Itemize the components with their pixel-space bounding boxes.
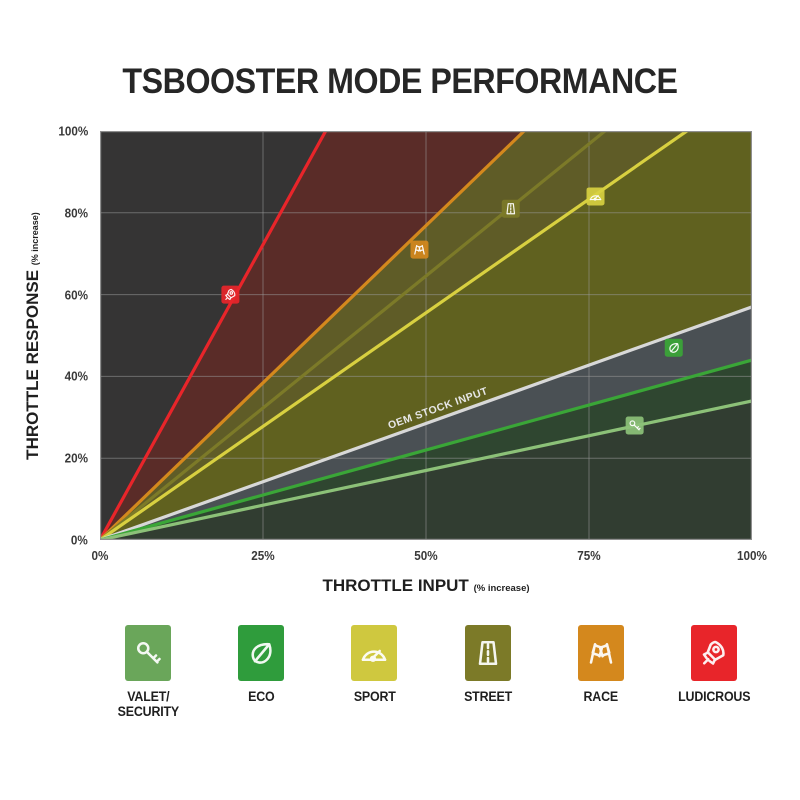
legend-item-sport[interactable]: SPORT xyxy=(322,625,426,704)
y-tick-label: 20% xyxy=(65,451,88,466)
legend-label: VALET/ SECURITY xyxy=(117,689,178,719)
legend-item-race[interactable]: RACE xyxy=(549,625,653,704)
legend-label: RACE xyxy=(584,689,618,704)
marker-tile xyxy=(221,286,239,304)
road-icon xyxy=(473,638,503,668)
legend-tile xyxy=(691,625,737,681)
key-icon xyxy=(133,638,163,668)
legend-tile xyxy=(351,625,397,681)
key-icon xyxy=(138,643,159,662)
data-marker-ludicrous xyxy=(221,286,239,304)
data-marker-race xyxy=(410,241,428,259)
chart-svg: OEM STOCK INPUT xyxy=(100,131,752,540)
x-tick-label: 75% xyxy=(577,548,600,563)
legend-item-eco[interactable]: ECO xyxy=(209,625,313,704)
legend-item-valet-security[interactable]: VALET/ SECURITY xyxy=(96,625,200,719)
y-axis-title-sub: (% increase) xyxy=(30,212,40,265)
y-tick-label: 0% xyxy=(71,533,88,548)
y-tick-label: 100% xyxy=(58,124,88,139)
legend-label: SPORT xyxy=(353,689,395,704)
chart-legend: VALET/ SECURITYECOSPORTSTREETRACELUDICRO… xyxy=(96,625,766,735)
y-tick-label: 60% xyxy=(65,287,88,302)
chart-plot-area: OEM STOCK INPUT xyxy=(100,131,752,540)
legend-item-street[interactable]: STREET xyxy=(436,625,540,704)
x-axis-title-sub: (% increase) xyxy=(474,583,530,594)
x-tick-label: 50% xyxy=(414,548,437,563)
legend-tile xyxy=(578,625,624,681)
legend-tile xyxy=(125,625,171,681)
leaf-icon xyxy=(246,638,276,668)
x-axis-title: THROTTLE INPUT (% increase) xyxy=(100,576,752,596)
rocket-icon xyxy=(704,642,723,664)
x-tick-label: 25% xyxy=(251,548,274,563)
legend-label: LUDICROUS xyxy=(678,689,750,704)
road-icon xyxy=(480,642,496,664)
y-axis-title: THROTTLE RESPONSE (% increase) xyxy=(20,131,46,540)
checkered-flags-icon xyxy=(586,638,616,668)
leaf-icon xyxy=(253,644,271,662)
page-title: TSBOOSTER MODE PERFORMANCE xyxy=(32,62,768,102)
x-tick-label: 0% xyxy=(92,548,109,563)
y-tick-label: 40% xyxy=(65,369,88,384)
legend-item-ludicrous[interactable]: LUDICROUS xyxy=(662,625,766,704)
gauge-icon xyxy=(359,638,389,668)
legend-label: STREET xyxy=(464,689,512,704)
data-marker-valet-security xyxy=(626,416,644,434)
checkered-flags-icon xyxy=(591,644,611,662)
data-marker-sport xyxy=(587,187,605,205)
legend-tile xyxy=(465,625,511,681)
x-axis-title-main: THROTTLE INPUT xyxy=(322,576,468,595)
data-marker-street xyxy=(502,200,520,218)
gauge-icon xyxy=(363,651,385,661)
legend-label: ECO xyxy=(248,689,274,704)
data-marker-eco xyxy=(665,339,683,357)
x-tick-label: 100% xyxy=(737,548,767,563)
y-tick-label: 80% xyxy=(65,205,88,220)
rocket-icon xyxy=(699,638,729,668)
legend-tile xyxy=(238,625,284,681)
y-axis-title-main: THROTTLE RESPONSE xyxy=(23,269,42,459)
marker-tile xyxy=(587,187,605,205)
